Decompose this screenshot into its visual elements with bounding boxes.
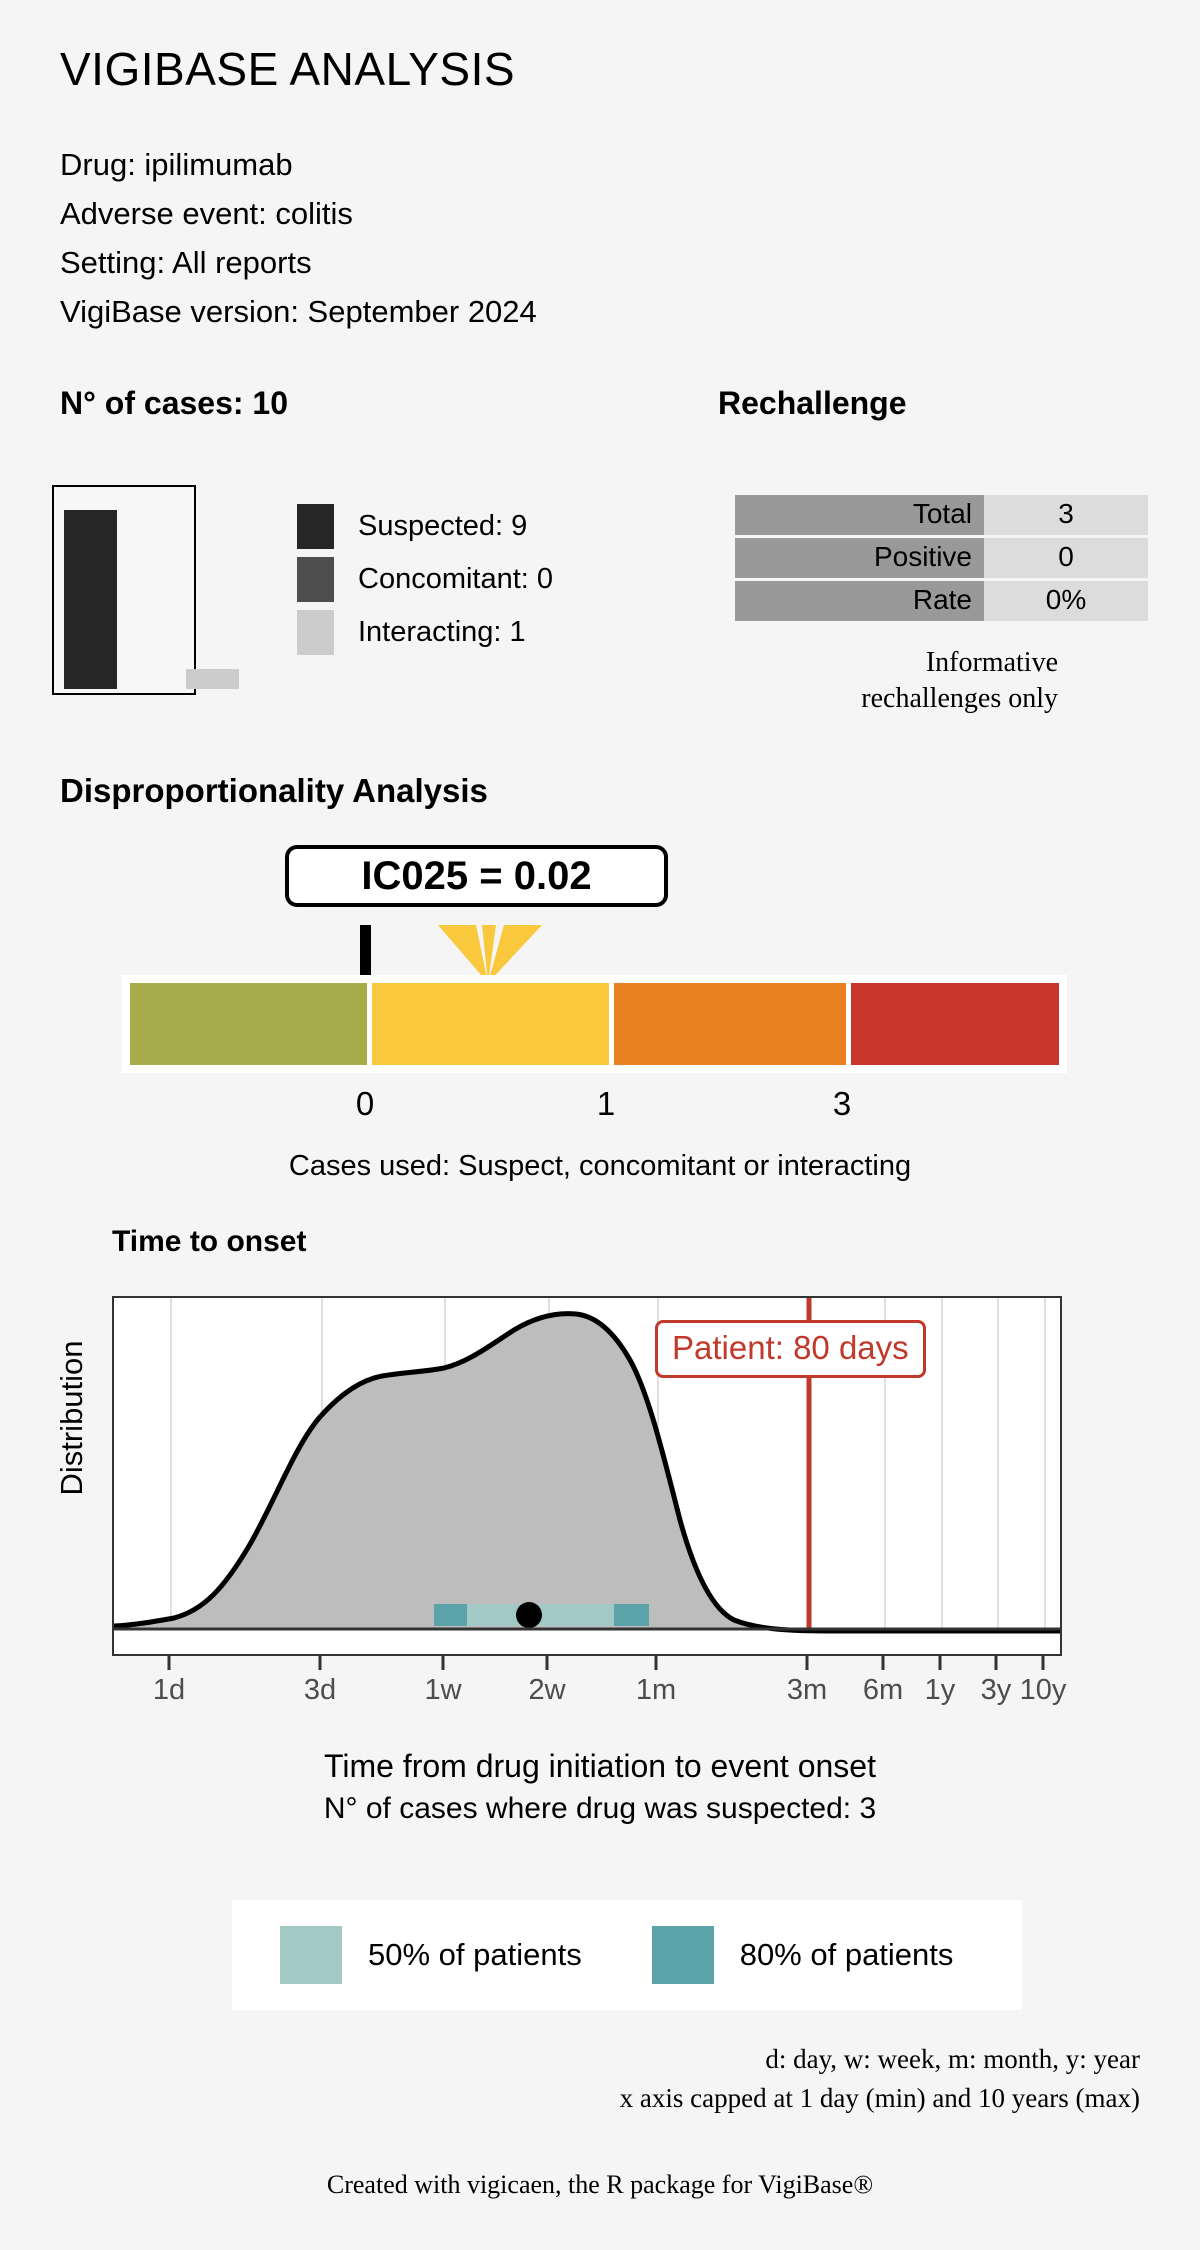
x-tick-label-1m: 1m [636, 1674, 676, 1707]
time-to-onset-heading: Time to onset [112, 1225, 306, 1259]
x-tick-label-2w: 2w [528, 1674, 565, 1707]
time-to-onset-subnote: N° of cases where drug was suspected: 3 [60, 1792, 1140, 1826]
scale-tick-0: 0 [356, 1085, 374, 1123]
rechallenge-value-rate: 0% [984, 581, 1148, 621]
scale-segment-3 [851, 983, 1059, 1065]
legend-label-interacting: Interacting: 1 [358, 616, 526, 649]
legend-item-suspected: Suspected: 9 [297, 500, 553, 553]
rechallenge-heading: Rechallenge [718, 385, 907, 422]
rechallenge-label-positive: Positive [735, 538, 984, 578]
legend-item-concomitant: Concomitant: 0 [297, 553, 553, 606]
x-tick-mark-3d [319, 1656, 322, 1670]
legend-label-suspected: Suspected: 9 [358, 510, 527, 543]
y-axis-label: Distribution [54, 1308, 90, 1528]
legend-item-interacting: Interacting: 1 [297, 606, 553, 659]
x-axis-title: Time from drug initiation to event onset [60, 1748, 1140, 1785]
disproportionality-caption: Cases used: Suspect, concomitant or inte… [60, 1150, 1140, 1183]
patient-annotation: Patient: 80 days [655, 1320, 926, 1378]
footer-notes: d: day, w: week, m: month, y: year x axi… [100, 2040, 1140, 2118]
legend-item-80-percent: 80% of patients [652, 1926, 954, 1984]
median-point [516, 1602, 542, 1628]
x-tick-mark-10y [1042, 1656, 1045, 1670]
cases-heading: N° of cases: 10 [60, 385, 288, 422]
x-tick-label-6m: 6m [863, 1674, 903, 1707]
interval-80-bar-right [614, 1604, 649, 1626]
x-tick-label-3y: 3y [981, 1674, 1012, 1707]
disproportionality-tick-labels: 0 1 3 [122, 1085, 1067, 1125]
legend-label-50-percent: 50% of patients [368, 1937, 582, 1973]
x-tick-mark-1d [168, 1656, 171, 1670]
rechallenge-note-line2: rechallenges only [718, 681, 1058, 717]
swatch-80-percent-icon [652, 1926, 714, 1984]
time-to-onset-legend: 50% of patients 80% of patients [232, 1900, 1022, 2010]
x-tick-mark-6m [882, 1656, 885, 1670]
x-tick-label-3m: 3m [787, 1674, 827, 1707]
setting-line: Setting: All reports [60, 238, 537, 287]
adverse-event-line: Adverse event: colitis [60, 189, 537, 238]
bar-suspected [64, 510, 117, 689]
vigibase-version-line: VigiBase version: September 2024 [60, 287, 537, 336]
interval-80-bar-left [434, 1604, 467, 1626]
x-tick-label-3d: 3d [304, 1674, 336, 1707]
rechallenge-label-total: Total [735, 495, 984, 535]
scale-segment-1 [372, 983, 609, 1065]
scale-tick-2: 3 [833, 1085, 851, 1123]
footer-credit: Created with vigicaen, the R package for… [60, 2170, 1140, 2200]
legend-label-concomitant: Concomitant: 0 [358, 563, 553, 596]
cases-legend: Suspected: 9 Concomitant: 0 Interacting:… [297, 500, 553, 659]
rechallenge-value-total: 3 [984, 495, 1148, 535]
disproportionality-heading: Disproportionality Analysis [60, 772, 488, 810]
table-row: Rate 0% [735, 581, 1148, 621]
rechallenge-label-rate: Rate [735, 581, 984, 621]
rechallenge-value-positive: 0 [984, 538, 1148, 578]
x-tick-mark-1w [442, 1656, 445, 1670]
analysis-metadata: Drug: ipilimumab Adverse event: colitis … [60, 140, 537, 336]
rechallenge-note: Informative rechallenges only [718, 645, 1058, 717]
x-tick-label-1w: 1w [424, 1674, 461, 1707]
scale-segment-2 [614, 983, 846, 1065]
swatch-suspected-icon [297, 504, 334, 549]
footer-note-line2: x axis capped at 1 day (min) and 10 year… [100, 2079, 1140, 2118]
x-tick-mark-2w [546, 1656, 549, 1670]
table-row: Positive 0 [735, 538, 1148, 578]
bar-interacting [186, 669, 239, 689]
x-tick-mark-3m [806, 1656, 809, 1670]
x-tick-label-10y: 10y [1020, 1674, 1067, 1707]
scale-segment-0 [130, 983, 367, 1065]
x-tick-label-1y: 1y [925, 1674, 956, 1707]
page-title: VIGIBASE ANALYSIS [60, 42, 515, 96]
cases-bar-chart [52, 485, 196, 695]
x-tick-mark-1y [939, 1656, 942, 1670]
x-tick-label-1d: 1d [153, 1674, 185, 1707]
swatch-concomitant-icon [297, 557, 334, 602]
rechallenge-table: Total 3 Positive 0 Rate 0% [735, 492, 1148, 624]
swatch-interacting-icon [297, 610, 334, 655]
table-row: Total 3 [735, 495, 1148, 535]
legend-label-80-percent: 80% of patients [740, 1937, 954, 1973]
disproportionality-scale [122, 975, 1067, 1073]
legend-item-50-percent: 50% of patients [280, 1926, 582, 1984]
x-tick-mark-1m [655, 1656, 658, 1670]
swatch-50-percent-icon [280, 1926, 342, 1984]
x-axis: 1d 3d 1w 2w 1m 3m 6m 1y 3y 10y [112, 1656, 1062, 1736]
drug-line: Drug: ipilimumab [60, 140, 537, 189]
x-tick-mark-3y [995, 1656, 998, 1670]
rechallenge-note-line1: Informative [718, 645, 1058, 681]
ic025-value-box: IC025 = 0.02 [285, 845, 668, 907]
scale-tick-1: 1 [597, 1085, 615, 1123]
footer-note-line1: d: day, w: week, m: month, y: year [100, 2040, 1140, 2079]
